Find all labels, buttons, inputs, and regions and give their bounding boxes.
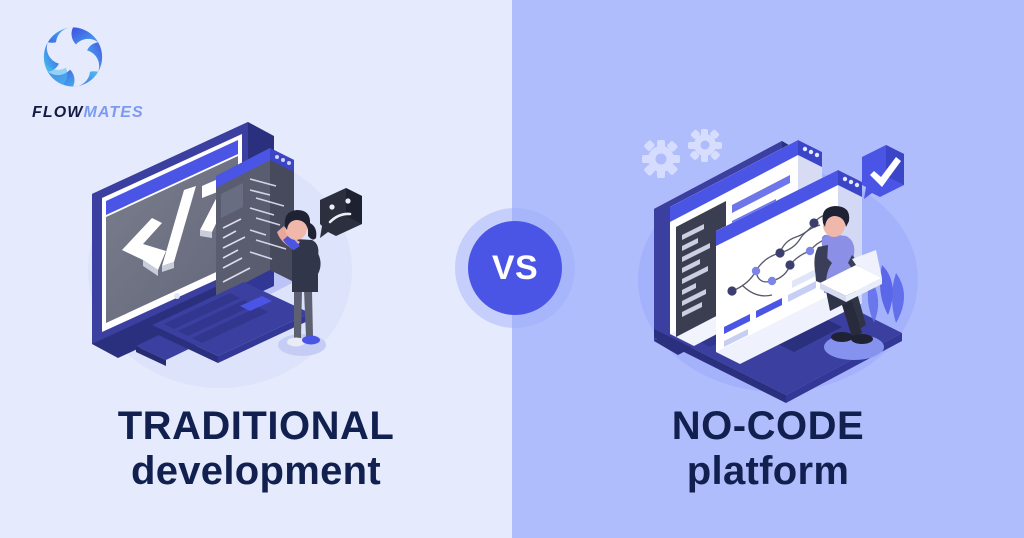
no-code-platform-illustration xyxy=(630,115,925,370)
sad-face-badge xyxy=(320,188,362,238)
left-title-line1: TRADITIONAL xyxy=(0,404,512,449)
brand-logo[interactable]: FLOWMATES xyxy=(22,20,142,120)
gears xyxy=(642,129,722,178)
vs-label: VS xyxy=(492,249,538,288)
left-title-line2: development xyxy=(0,449,512,494)
vs-badge-circle: VS xyxy=(468,221,562,315)
vs-badge: VS xyxy=(455,208,575,328)
comparison-banner: FLOWMATES xyxy=(0,0,1024,538)
flowmates-swirl-logo-icon xyxy=(36,20,110,94)
right-caption: NO-CODE platform xyxy=(512,404,1024,494)
gear-icon-left xyxy=(642,140,680,178)
right-title-line2: platform xyxy=(512,449,1024,494)
left-caption: TRADITIONAL development xyxy=(0,404,512,494)
checkmark-badge xyxy=(862,145,904,199)
traditional-development-illustration xyxy=(80,110,380,365)
gear-icon-right xyxy=(688,129,722,162)
brand-name-part1: FLOW xyxy=(32,104,84,121)
right-title-line1: NO-CODE xyxy=(512,404,1024,449)
